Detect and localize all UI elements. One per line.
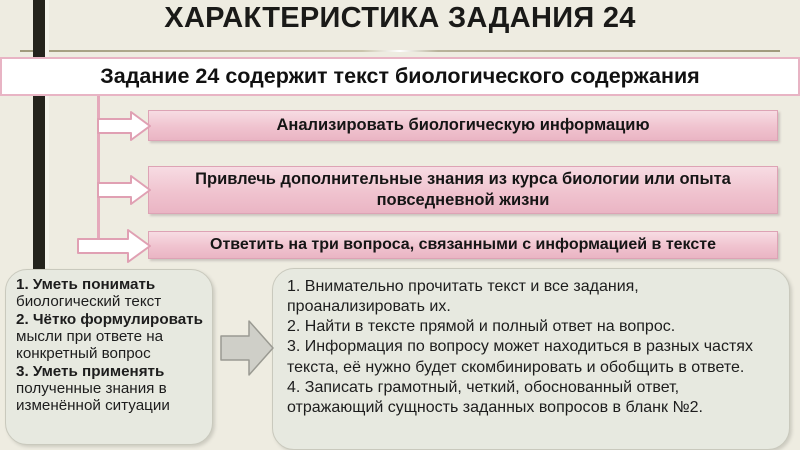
- skills-line-1-rest: биологический текст: [16, 293, 161, 310]
- skills-line-1: 1. Уметь понимать биологический текст: [16, 276, 204, 311]
- step-1: 1. Внимательно прочитать текст и все зад…: [287, 277, 779, 317]
- skills-line-2-bold: 2. Чётко формулировать: [16, 311, 203, 328]
- skills-line-3: 3. Уметь применять полученные знания в и…: [16, 363, 204, 415]
- process-arrow-icon: [219, 318, 275, 378]
- requirement-text: Привлечь дополнительные знания из курса …: [167, 169, 759, 210]
- decorative-dark-bar: [33, 0, 45, 272]
- step-4: 4. Записать грамотный, четкий, обоснован…: [287, 378, 779, 418]
- flow-arrow-3-icon: [78, 229, 152, 263]
- step-3: 3. Информация по вопросу может находитьс…: [287, 337, 779, 377]
- banner: Задание 24 содержит текст биологического…: [0, 57, 800, 96]
- skills-line-3-bold: 3. Уметь применять: [16, 363, 164, 380]
- skills-line-3-rest: полученные знания в изменённой ситуации: [16, 380, 170, 414]
- title-divider: [20, 50, 780, 52]
- skills-box: 1. Уметь понимать биологический текст 2.…: [5, 269, 213, 445]
- requirement-text: Ответить на три вопроса, связанными с ин…: [210, 236, 716, 254]
- decorative-light-bar: [45, 0, 49, 268]
- skills-line-2: 2. Чётко формулировать мысли при ответе …: [16, 311, 204, 363]
- page-title: ХАРАКТЕРИСТИКА ЗАДАНИЯ 24: [0, 2, 800, 35]
- skills-line-1-bold: 1. Уметь понимать: [16, 276, 155, 293]
- requirement-text: Анализировать биологическую информацию: [276, 116, 649, 135]
- banner-text: Задание 24 содержит текст биологического…: [100, 64, 699, 89]
- step-2: 2. Найти в тексте прямой и полный ответ …: [287, 317, 779, 337]
- requirement-box-3: Ответить на три вопроса, связанными с ин…: [148, 231, 778, 259]
- requirement-box-1: Анализировать биологическую информацию: [148, 110, 778, 141]
- flow-arrow-2-icon: [98, 175, 152, 205]
- requirement-box-2: Привлечь дополнительные знания из курса …: [148, 166, 778, 214]
- steps-box: 1. Внимательно прочитать текст и все зад…: [272, 268, 790, 450]
- flow-arrow-1-icon: [98, 111, 152, 141]
- skills-line-2-rest: мысли при ответе на конкретный вопрос: [16, 328, 163, 362]
